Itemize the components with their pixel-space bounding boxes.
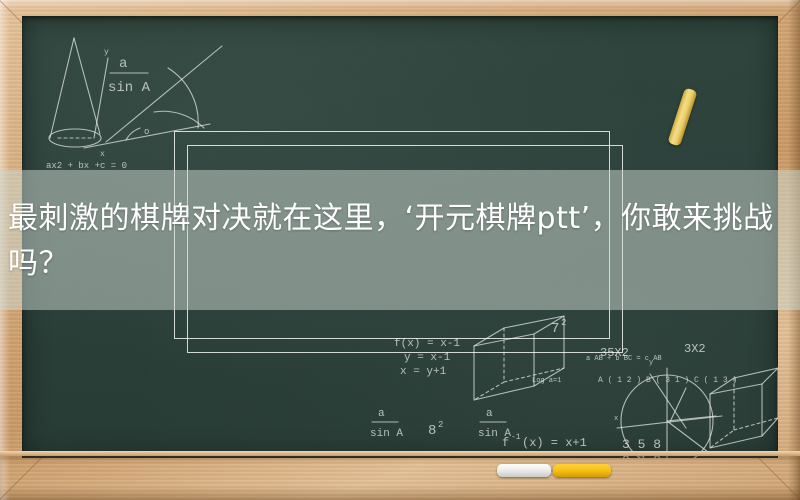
svg-text:f: f	[502, 436, 509, 450]
cone-drawing	[49, 38, 101, 147]
log-a1-label: Log a=1	[532, 377, 561, 385]
svg-text:8: 8	[428, 423, 436, 439]
headline-text: 最刺激的棋牌对决就在这里，‘开元棋牌ptt’，你敢来挑战吗？	[8, 196, 798, 286]
svg-text:a: a	[486, 408, 493, 420]
svg-text:-1: -1	[511, 433, 521, 442]
svg-text:2: 2	[438, 420, 443, 430]
svg-text:x = y+1: x = y+1	[400, 366, 447, 378]
label-3x2: 3X2	[684, 342, 706, 356]
chalkboard-banner: a sin A ax2 + bx +c = 0 y x o	[0, 0, 800, 500]
chalk-ledge	[0, 456, 800, 500]
svg-text:y: y	[104, 48, 109, 57]
fraction-a-over-sinA-left-bottom: a sin A	[370, 408, 403, 440]
matrix-row: A ( 1 2 ) B ( 3 1 ) C ( 1 3 )	[598, 376, 737, 385]
svg-text:sin A: sin A	[478, 428, 511, 440]
power-eight: 8 2	[428, 420, 443, 439]
quadratic-equation: ax2 + bx +c = 0	[46, 161, 127, 171]
svg-text:a: a	[378, 408, 385, 420]
fraction-a-over-sinA-center-bottom: a sin A	[478, 408, 511, 440]
svg-text:sin A: sin A	[108, 80, 151, 96]
fraction-a-over-sinA-topleft: a sin A	[108, 56, 151, 96]
svg-text:3 5 8: 3 5 8	[622, 437, 661, 452]
svg-text:a: a	[119, 56, 127, 72]
vector-note: a AB + b BC = c AB	[586, 355, 662, 363]
circle-axes-drawing: y x	[614, 359, 722, 458]
svg-text:x: x	[614, 415, 618, 423]
svg-text:(x) = x+1: (x) = x+1	[522, 436, 587, 450]
cube-drawing-right	[710, 368, 778, 448]
svg-text:o: o	[144, 127, 149, 137]
svg-text:y = x-1: y = x-1	[404, 352, 451, 364]
svg-text:sin A: sin A	[370, 428, 403, 440]
svg-text:y: y	[649, 359, 653, 367]
inverse-function: f -1 (x) = x+1	[502, 433, 587, 450]
svg-text:x: x	[100, 150, 105, 159]
